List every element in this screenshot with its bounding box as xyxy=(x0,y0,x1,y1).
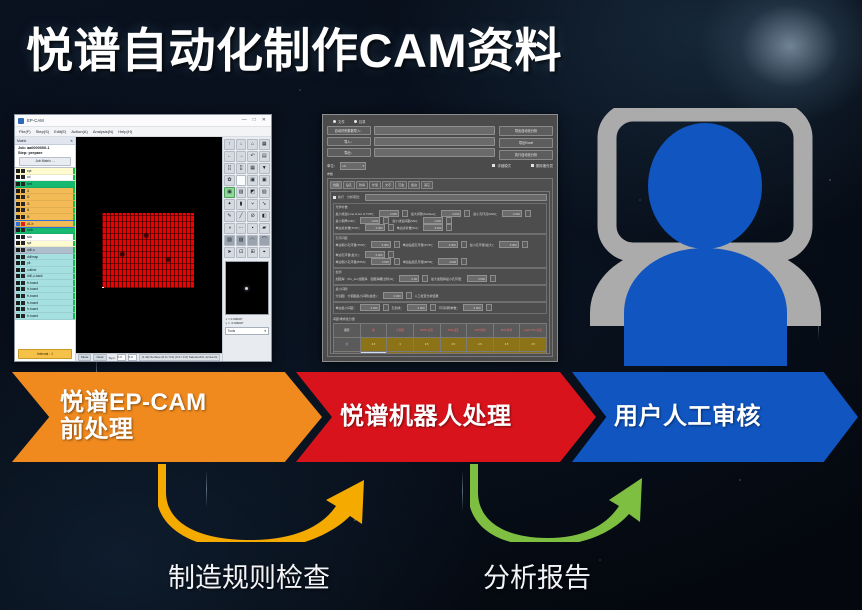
param-stepper[interactable] xyxy=(430,304,436,311)
pen-icon[interactable]: ✎ xyxy=(224,211,235,222)
dots-grid-icon[interactable]: ⣿ xyxy=(224,163,235,174)
layer-visibility-toggle[interactable] xyxy=(16,169,20,173)
line-icon[interactable]: ╱ xyxy=(236,211,247,222)
matrix-col-header-5: BTM 防焊 xyxy=(493,323,520,337)
maximize-icon[interactable]: □ xyxy=(253,118,256,123)
curved-arrow-shape xyxy=(470,464,642,542)
param-label: 最小孔环量(最大)： xyxy=(470,243,496,247)
layer-name: fr-board xyxy=(26,294,73,298)
params-tab-5[interactable]: 沉金 xyxy=(395,181,407,189)
target-icon[interactable]: ✦ xyxy=(224,199,235,210)
layer-row[interactable]: smt xyxy=(15,181,75,188)
stamp-icon[interactable]: ▧ xyxy=(259,187,270,198)
layer-row[interactable]: spt xyxy=(15,241,75,248)
undo-icon[interactable]: ↶ xyxy=(247,151,258,162)
layer-visibility-toggle[interactable] xyxy=(16,261,20,265)
flow-step-1-line2: 前处理 xyxy=(60,416,134,443)
panel2-icon[interactable]: ▨ xyxy=(236,235,247,246)
layer-lock-toggle[interactable] xyxy=(21,248,25,252)
run-analysis-button[interactable]: 执行自动化分析 xyxy=(499,150,553,160)
zoom-rect-icon[interactable]: ⊞ xyxy=(247,247,258,258)
layer-visibility-toggle[interactable] xyxy=(16,274,20,278)
layer-lock-toggle[interactable] xyxy=(21,182,25,186)
layer-name: cd xyxy=(26,175,73,179)
status-field-x[interactable]: 0.0 xyxy=(117,354,126,361)
box-icon[interactable]: ▣ xyxy=(247,175,258,186)
select-rect-icon[interactable]: ▣ xyxy=(224,187,235,198)
param-stepper[interactable] xyxy=(525,210,531,217)
import-params-row[interactable]: 自动识别参数导入： xyxy=(327,126,495,135)
param-stepper[interactable] xyxy=(422,275,428,282)
layer-lock-toggle[interactable] xyxy=(21,215,25,219)
param-stepper[interactable] xyxy=(383,304,389,311)
layer-row[interactable]: sdo xyxy=(15,234,75,241)
param-stepper[interactable] xyxy=(406,292,412,299)
params-panel[interactable]: 线路钻孔防焊外型文字沉金板边其它 执行 分析项目： 光学补偿最小线宽(Line … xyxy=(327,178,553,358)
internal-status-button[interactable]: Internal : 1 xyxy=(18,349,72,359)
menu-edit[interactable]: Edit(E) xyxy=(54,129,66,134)
layer-lock-toggle[interactable] xyxy=(21,274,25,278)
flow-step-1[interactable]: 悦谱EP-CAM 前处理 xyxy=(12,372,322,462)
layer-status-bar xyxy=(73,293,75,299)
layer-row[interactable]: fr-board xyxy=(15,280,75,287)
param-stepper[interactable] xyxy=(461,241,467,248)
delete-backup-checkbox[interactable]: 删除备份层 xyxy=(531,163,553,168)
cam-titlebar: EP-CAM — □ ✕ xyxy=(15,115,271,127)
spacing-matrix[interactable]: 图形线大铜面NPTH 钻孔PTH 钻孔TOP 防焊BTM 防焊Laser PTH… xyxy=(333,323,547,352)
param-stepper[interactable] xyxy=(446,224,452,231)
job-matrix-button[interactable]: Job Matrix ... xyxy=(19,157,71,166)
contrast-icon[interactable]: ◑ xyxy=(224,223,235,234)
flow-step-3-label: 用户人工审核 xyxy=(614,404,761,431)
layer-visibility-toggle[interactable] xyxy=(16,208,20,212)
flow-step-2-label: 悦谱机器人处理 xyxy=(340,404,512,431)
layer-lock-toggle[interactable] xyxy=(21,235,25,239)
matrix-cell-value[interactable]: 4 xyxy=(387,351,414,354)
cam-toolbar[interactable]: ↑↓⌂▦←→↶▤⣿⣿▦▼✿▣▣▣▨◩▧✦▮⑂➘✎╱⊘◧◑⋯▪▰▨▨◠⌒➤⊡⊞⌖ … xyxy=(222,137,271,361)
layer-status-bar xyxy=(73,287,75,293)
matrix-row-header-1: 大铜面 xyxy=(334,351,361,354)
layer-visibility-toggle[interactable] xyxy=(16,202,20,206)
tools-dropdown-value: Tools xyxy=(228,329,235,333)
matrix-cell-value[interactable]: 2.5 xyxy=(413,337,440,351)
exec-row[interactable]: 执行 分析项目： xyxy=(333,194,547,201)
layer-row[interactable]: fr-board xyxy=(15,313,75,320)
table-icon[interactable]: ▦ xyxy=(247,163,258,174)
matrix-row: 大铜面434333 xyxy=(334,351,547,354)
ep-cam-window[interactable]: EP-CAM — □ ✕ File(F) Step(S) Edit(E) Act… xyxy=(14,114,272,362)
invert-icon[interactable]: ▪ xyxy=(247,223,258,234)
matrix-cell-editor[interactable] xyxy=(360,351,387,354)
layer-lock-toggle[interactable] xyxy=(21,287,25,291)
gear-icon[interactable]: ✿ xyxy=(224,175,235,186)
menu-analysis[interactable]: Analysis(N) xyxy=(93,129,113,134)
radio-directory-label: 目录 xyxy=(359,119,366,124)
param-value-field[interactable]: 3.000 xyxy=(407,304,427,311)
param-stepper[interactable] xyxy=(394,258,400,265)
layer-row[interactable]: fr-board xyxy=(15,306,75,313)
matrix-col-header-6: Laser PTH 钻孔 xyxy=(520,323,547,337)
layer-name: l5 xyxy=(26,215,73,219)
layer-name: outline xyxy=(26,268,73,272)
cam-canvas[interactable] xyxy=(76,137,222,353)
menu-help[interactable]: Help(H) xyxy=(118,129,132,134)
robot-config-window[interactable]: 文件 目录 自动识别参数导入： 导入： 导出： 导出自动化分析 导出Excel … xyxy=(322,114,558,362)
params-tabs[interactable]: 线路钻孔防焊外型文字沉金板边其它 xyxy=(330,181,550,189)
param-label: 最大间隙(Surface)： xyxy=(411,212,438,216)
checkbox-icon xyxy=(333,196,336,199)
params-tab-7[interactable]: 其它 xyxy=(421,181,433,189)
param-value-field[interactable]: 3.000 xyxy=(423,224,443,231)
param-row: 分割图大铜面最小间隙(最终)：3.000人工检查分析结果 xyxy=(336,292,545,299)
compare-icon[interactable]: ◩ xyxy=(247,187,258,198)
matrix-cell-value[interactable]: 2.5 xyxy=(493,337,520,351)
param-value-field[interactable]: 3.000 xyxy=(438,258,458,265)
matrix-row: 线2.532.52.52.52.52.5 xyxy=(334,337,547,351)
layer-visibility-toggle[interactable] xyxy=(16,175,20,179)
matrix-cell-value[interactable]: 3 xyxy=(413,351,440,354)
params-tab-0[interactable]: 线路 xyxy=(330,181,342,189)
param-stepper[interactable] xyxy=(402,210,408,217)
arrow-right-icon[interactable]: → xyxy=(236,151,247,162)
layer-lock-toggle[interactable] xyxy=(21,307,25,311)
layer-visibility-toggle[interactable] xyxy=(16,281,20,285)
arc-icon[interactable]: ◠ xyxy=(247,235,258,246)
feedback-arrow-2 xyxy=(470,462,660,542)
layer-row[interactable]: ept xyxy=(15,168,75,175)
param-value-field[interactable]: 3.000 xyxy=(499,241,519,248)
matrix-cell-value[interactable]: 2.5 xyxy=(520,337,547,351)
layer-row[interactable]: l1 xyxy=(15,188,75,195)
layer-row[interactable]: drillmap xyxy=(15,254,75,261)
layer-lock-toggle[interactable] xyxy=(21,261,25,265)
layer-visibility-toggle[interactable] xyxy=(16,222,20,226)
layer-lock-toggle[interactable] xyxy=(21,195,25,199)
source-type-radios[interactable]: 文件 目录 xyxy=(327,119,553,124)
dots-grid2-icon[interactable]: ⣿ xyxy=(236,163,247,174)
layer-row[interactable]: d1-b xyxy=(15,221,75,228)
param-stepper[interactable] xyxy=(394,241,400,248)
layer-lock-toggle[interactable] xyxy=(21,175,25,179)
layer-visibility-toggle[interactable] xyxy=(16,195,20,199)
matrix-cell-value[interactable]: 3 xyxy=(467,351,494,354)
arrow-down-icon[interactable]: ↓ xyxy=(236,139,247,150)
matrix-cell-value[interactable]: 3 xyxy=(493,351,520,354)
exec-checkbox[interactable]: 执行 xyxy=(333,195,344,199)
tool-grid[interactable]: ↑↓⌂▦←→↶▤⣿⣿▦▼✿▣▣▣▨◩▧✦▮⑂➘✎╱⊘◧◑⋯▪▰▨▨◠⌒➤⊡⊞⌖ xyxy=(223,137,271,259)
params-tab-4[interactable]: 文字 xyxy=(382,181,394,189)
param-label: 单边点补偿(TOP)： xyxy=(336,226,362,230)
param-label: 单边孔环量(最大)： xyxy=(336,253,362,257)
layer-lock-toggle[interactable] xyxy=(21,202,25,206)
menu-action[interactable]: Action(A) xyxy=(71,129,87,134)
spacing-matrix-table[interactable]: 图形线大铜面NPTH 钻孔PTH 钻孔TOP 防焊BTM 防焊Laser PTH… xyxy=(333,323,547,355)
param-value-field[interactable]: 3.000 xyxy=(441,210,461,217)
layer-name: sdo xyxy=(26,235,73,239)
layer-name: fr-board xyxy=(26,287,73,291)
param-value-field[interactable]: 3.000 xyxy=(365,224,385,231)
param-stepper[interactable] xyxy=(486,304,492,311)
cam-menubar[interactable]: File(F) Step(S) Edit(E) Action(A) Analys… xyxy=(15,127,271,137)
layer-name: drillmap xyxy=(26,255,73,259)
export-excel-button[interactable]: 导出Excel xyxy=(499,138,553,148)
layer-row[interactable]: drill-o-back xyxy=(15,274,75,281)
status-field-y[interactable]: 0.0 xyxy=(128,354,137,361)
layer-name: smb xyxy=(26,228,73,232)
preview-pane xyxy=(225,261,269,315)
feedback-label-2: 分析报告 xyxy=(483,556,591,595)
menu-step[interactable]: Step(S) xyxy=(36,129,50,134)
param-value-field[interactable]: 3.000 xyxy=(438,241,458,248)
copy-icon[interactable]: ▨ xyxy=(236,187,247,198)
matrix-cell-value[interactable]: 2.5 xyxy=(467,337,494,351)
layer-lock-toggle[interactable] xyxy=(21,281,25,285)
wrench-icon[interactable]: ➘ xyxy=(259,199,270,210)
paint-icon[interactable]: ◧ xyxy=(259,211,270,222)
layer-lock-toggle[interactable] xyxy=(21,222,25,226)
matrix-col-header-1: 大铜面 xyxy=(387,323,414,337)
layer-name: fr-board xyxy=(26,301,73,305)
matrix-cell-value[interactable]: 2.5 xyxy=(440,337,467,351)
param-value-field[interactable]: 3.000 xyxy=(383,292,403,299)
layer-row[interactable]: l3 xyxy=(15,201,75,208)
layer-status-bar xyxy=(73,221,75,227)
layer-visibility-toggle[interactable] xyxy=(16,215,20,219)
param-stepper[interactable] xyxy=(388,224,394,231)
params-tab-2[interactable]: 防焊 xyxy=(356,181,368,189)
layer-lock-toggle[interactable] xyxy=(21,314,25,318)
flow-step-3[interactable]: 用户人工审核 xyxy=(572,372,858,462)
origin-marker xyxy=(102,287,104,288)
circle-slash-icon[interactable]: ⊘ xyxy=(247,211,258,222)
layer-row[interactable]: plt xyxy=(15,260,75,267)
param-stepper[interactable] xyxy=(388,251,394,258)
layer-name: l2 xyxy=(26,195,73,199)
layer-visibility-toggle[interactable] xyxy=(16,189,20,193)
rect-select-icon[interactable]: ⊡ xyxy=(236,247,247,258)
cursor-icon[interactable]: ➤ xyxy=(224,247,235,258)
param-label: 单边铜小孔环量(BTM)： xyxy=(336,260,368,264)
delete-icon[interactable]: ▮ xyxy=(236,199,247,210)
export-row[interactable]: 导出： xyxy=(327,148,495,157)
layer-list[interactable]: eptcdsmtl1l2l3l4l5d1-bsmbsdosptdrill-odr… xyxy=(15,167,75,348)
layer-visibility-toggle[interactable] xyxy=(16,307,20,311)
param-label: 单边钻径孔环量(TOP)： xyxy=(403,243,435,247)
layer-status-bar xyxy=(73,306,75,312)
layer-name: d1-b xyxy=(26,222,73,226)
param-value-field[interactable]: 3.000 xyxy=(467,275,487,282)
param-value-field[interactable]: 3.000 xyxy=(360,304,380,311)
param-stepper[interactable] xyxy=(464,210,470,217)
layer-row[interactable]: drill-o xyxy=(15,247,75,254)
param-value-field[interactable]: 3.000 xyxy=(463,304,483,311)
layer-visibility-toggle[interactable] xyxy=(16,268,20,272)
layer-lock-toggle[interactable] xyxy=(21,294,25,298)
auto-detect-import-input[interactable] xyxy=(374,126,495,135)
layer-visibility-toggle[interactable] xyxy=(16,287,20,291)
matrix-cell-value[interactable]: 3 xyxy=(387,337,414,351)
box2-icon[interactable]: ▣ xyxy=(259,175,270,186)
layer-row[interactable]: outline xyxy=(15,267,75,274)
layer-name: plt xyxy=(26,261,73,265)
layer-name: l1 xyxy=(26,189,73,193)
params-tab-6[interactable]: 板边 xyxy=(408,181,420,189)
layer-status-bar xyxy=(73,234,75,240)
auto-detect-import-button[interactable]: 自动识别参数导入： xyxy=(327,126,371,135)
person-head-icon xyxy=(648,123,762,249)
param-stepper[interactable] xyxy=(446,217,452,224)
layer-lock-toggle[interactable] xyxy=(21,208,25,212)
flag-icon[interactable]: ▰ xyxy=(259,223,270,234)
layer-visibility-toggle[interactable] xyxy=(16,255,20,259)
param-label: 最小孔环点(Ms#)： xyxy=(473,212,499,216)
layer-status-bar xyxy=(73,168,75,174)
params-tab-1[interactable]: 钻孔 xyxy=(343,181,355,189)
param-group-0: 光学补偿最小线宽(Line & Arc & TOP)：3.000最大间隙(Sur… xyxy=(333,203,547,234)
layer-lock-toggle[interactable] xyxy=(21,189,25,193)
param-row: 单边点补偿(TOP)：3.000单边点补偿(Tol)：3.000 xyxy=(336,224,545,231)
layers-icon[interactable]: ▤ xyxy=(259,151,270,162)
layer-lock-toggle[interactable] xyxy=(21,169,25,173)
layer-lock-toggle[interactable] xyxy=(21,228,25,232)
layer-row[interactable]: fr-board xyxy=(15,300,75,307)
import-input[interactable] xyxy=(374,137,495,146)
param-value-field[interactable]: 1.000 xyxy=(360,217,380,224)
radio-file[interactable]: 文件 xyxy=(333,119,345,124)
analysis-item-input[interactable] xyxy=(365,194,547,201)
import-button[interactable]: 导入： xyxy=(327,137,371,146)
layer-visibility-toggle[interactable] xyxy=(16,294,20,298)
status-chip-clear[interactable]: Clear xyxy=(93,354,106,361)
layer-row[interactable]: l2 xyxy=(15,194,75,201)
matrix-header-row: 图形线大铜面NPTH 钻孔PTH 钻孔TOP 防焊BTM 防焊Laser PTH… xyxy=(334,323,547,337)
layer-name: drill-o xyxy=(26,248,73,252)
param-row: 最小铜厚(Oth)：1.000最小线宽间距(Min)：1.000 xyxy=(336,217,545,224)
layer-lock-toggle[interactable] xyxy=(21,241,25,245)
detail-mode-checkbox[interactable]: 详细模式 xyxy=(492,163,511,168)
filter-icon[interactable]: ▼ xyxy=(259,163,270,174)
param-value-field[interactable]: 1.000 xyxy=(423,217,443,224)
layer-visibility-toggle[interactable] xyxy=(16,301,20,305)
export-input[interactable] xyxy=(374,148,495,157)
detail-mode-label: 详细模式 xyxy=(497,163,511,168)
export-button[interactable]: 导出： xyxy=(327,148,371,157)
layer-row[interactable]: fr-board xyxy=(15,293,75,300)
menu-file[interactable]: File(F) xyxy=(19,129,31,134)
layer-visibility-toggle[interactable] xyxy=(16,228,20,232)
layer-visibility-toggle[interactable] xyxy=(16,241,20,245)
layer-visibility-toggle[interactable] xyxy=(16,314,20,318)
radio-directory[interactable]: 目录 xyxy=(354,119,366,124)
tools-dropdown[interactable]: Tools ▾ xyxy=(225,327,269,335)
page-title: 悦谱自动化制作CAM资料 xyxy=(26,12,562,81)
flow-step-1-inner: 悦谱EP-CAM 前处理 xyxy=(12,372,322,462)
layer-lock-toggle[interactable] xyxy=(21,268,25,272)
layer-lock-toggle[interactable] xyxy=(21,301,25,305)
flow-step-2[interactable]: 悦谱机器人处理 xyxy=(296,372,596,462)
param-label: 孔到线： xyxy=(392,306,404,310)
layer-row[interactable]: cd xyxy=(15,175,75,182)
param-stepper[interactable] xyxy=(461,258,467,265)
dock-close-icon[interactable]: ✕ xyxy=(70,139,73,143)
param-label: 单边最小间距： xyxy=(336,306,357,310)
status-chip-mode[interactable]: Mode xyxy=(78,354,92,361)
unit-select[interactable]: mil ▾ xyxy=(340,162,366,170)
layer-status-bar xyxy=(73,201,75,207)
layer-row[interactable]: smb xyxy=(15,227,75,234)
param-value-field[interactable]: 3.000 xyxy=(371,258,391,265)
layer-visibility-toggle[interactable] xyxy=(16,235,20,239)
layer-lock-toggle[interactable] xyxy=(21,255,25,259)
matrix-dock[interactable]: Matrix ✕ Job: aa0000000-1 Step: prepare … xyxy=(15,137,76,361)
radio-file-label: 文件 xyxy=(338,119,345,124)
layer-name: fr-board xyxy=(26,281,73,285)
param-label: 不同间隙参数： xyxy=(439,306,460,310)
home-icon[interactable]: ⌂ xyxy=(247,139,258,150)
matrix-cell-value[interactable]: 4 xyxy=(440,351,467,354)
panel-icon[interactable]: ▨ xyxy=(224,235,235,246)
layer-visibility-toggle[interactable] xyxy=(16,248,20,252)
param-label: 大铜面最小间隙(最终)： xyxy=(348,294,380,298)
param-stepper[interactable] xyxy=(522,241,528,248)
export-analysis-button[interactable]: 导出自动化分析 xyxy=(499,126,553,136)
matrix-cell-value[interactable]: 3 xyxy=(520,351,547,354)
flow-step-2-inner: 悦谱机器人处理 xyxy=(296,372,596,462)
param-label: 分割图 xyxy=(336,294,345,298)
param-value-field[interactable]: 3.000 xyxy=(379,210,399,217)
param-stepper[interactable] xyxy=(383,217,389,224)
param-value-field[interactable]: 3.000 xyxy=(502,210,522,217)
bridge-icon[interactable]: ⌒ xyxy=(259,235,270,246)
chevron-down-icon: ▾ xyxy=(264,329,266,333)
checkbox-icon xyxy=(531,164,534,167)
user-at-computer-icon xyxy=(578,108,833,366)
layer-visibility-toggle[interactable] xyxy=(16,182,20,186)
arrow-up-icon[interactable]: ↑ xyxy=(224,139,235,150)
param-value-field[interactable]: 3.000 xyxy=(365,251,385,258)
layer-row[interactable]: fr-board xyxy=(15,287,75,294)
close-icon[interactable]: ✕ xyxy=(262,118,266,123)
layer-row[interactable]: l5 xyxy=(15,214,75,221)
checkbox-icon xyxy=(492,164,495,167)
layer-row[interactable]: l4 xyxy=(15,208,75,215)
param-group-1: 孔环间距单边铜小孔环量(TOP)：3.000单边钻径孔环量(TOP)：3.000… xyxy=(333,234,547,268)
param-stepper[interactable] xyxy=(490,275,496,282)
matrix-cell-value[interactable]: 2.5 xyxy=(360,337,387,351)
param-value-field[interactable]: 0.00 xyxy=(399,275,419,282)
blank-icon[interactable] xyxy=(236,175,247,186)
param-label: 加阻焊覆比例(%)： xyxy=(370,277,396,281)
minimize-icon[interactable]: — xyxy=(242,118,247,123)
import-row[interactable]: 导入： xyxy=(327,137,495,146)
measure-icon[interactable]: ⌖ xyxy=(259,247,270,258)
branch-icon[interactable]: ⑂ xyxy=(247,199,258,210)
layer-status-bar xyxy=(73,214,75,220)
layer-status-bar xyxy=(73,313,75,319)
param-group-3: 最小间隙分割图大铜面最小间隙(最终)：3.000人工检查分析结果 xyxy=(333,285,547,302)
layer-name: drill-o-back xyxy=(26,274,73,278)
dash-icon[interactable]: ⋯ xyxy=(236,223,247,234)
unit-label: 单位： xyxy=(327,163,337,168)
arrow-left-icon[interactable]: ← xyxy=(224,151,235,162)
status-info: (1.40) Surface (0.0 / 0.0) (0.0 / 0.0) S… xyxy=(139,354,220,361)
params-tab-3[interactable]: 外型 xyxy=(369,181,381,189)
param-group-4: 单边最小间距：3.000孔到线：3.000不同间隙参数：3.000 xyxy=(333,302,547,314)
cam-window-title: EP-CAM xyxy=(27,118,44,123)
param-value-field[interactable]: 3.000 xyxy=(371,241,391,248)
radio-dot-icon xyxy=(333,120,336,123)
grid-icon[interactable]: ▦ xyxy=(259,139,270,150)
